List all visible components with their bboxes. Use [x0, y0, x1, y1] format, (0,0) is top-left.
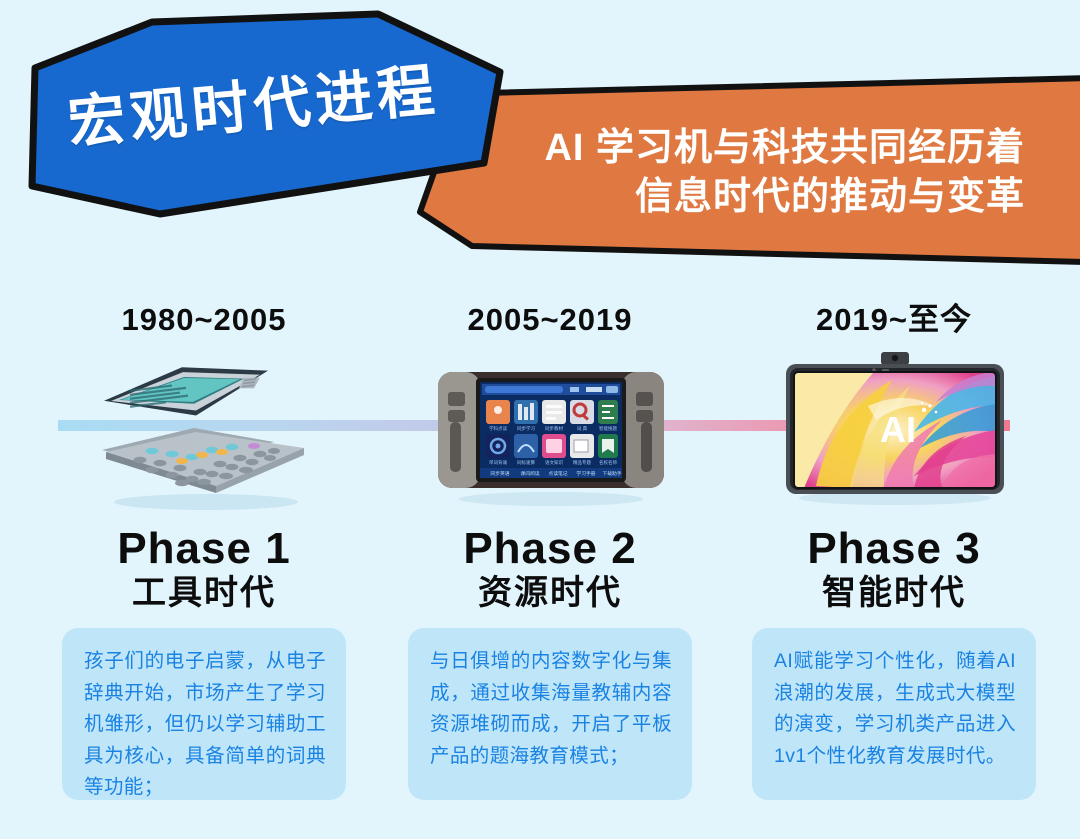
ai-screen-label: AI [880, 409, 916, 450]
phase-year-1: 1980~2005 [34, 300, 374, 340]
phase-description-card-3: AI赋能学习个性化，随着AI浪潮的发展，生成式大模型的演变，学习机类产品进入1v… [752, 628, 1036, 800]
phase-title-cn-2: 资源时代 [380, 574, 720, 613]
phase-year-3: 2019~至今 [724, 300, 1064, 340]
svg-text:学科点读: 学科点读 [489, 425, 507, 432]
phase-title-cn-3: 智能时代 [724, 574, 1064, 613]
phase-title-en-1: Phase 1 [34, 526, 374, 572]
phase-device-slot-3: AI [724, 346, 1064, 516]
svg-text:词 典: 词 典 [577, 425, 588, 432]
page-subtitle-line-2: 信息时代的推动与变革 [470, 173, 1025, 222]
svg-text:同步学习: 同步学习 [517, 425, 535, 432]
svg-text:语文知识: 语文知识 [545, 459, 563, 466]
phase-title-cn-1: 工具时代 [34, 574, 374, 613]
phase-device-slot-1 [34, 346, 374, 516]
svg-text:学习手册: 学习手册 [576, 470, 595, 477]
media-learning-tablet-device: 学科点读 同步学习 同步教材 词 典 智能搜题 [420, 356, 682, 506]
svg-text:同标速算: 同标速算 [517, 459, 535, 466]
svg-text:同步教材: 同步教材 [545, 425, 563, 432]
phase-title-en-3: Phase 3 [724, 526, 1064, 572]
infographic-canvas: 宏观时代进程 AI 学习机与科技共同经历着 信息时代的推动与变革 1980~20… [0, 0, 1080, 839]
svg-text:精品专题: 精品专题 [573, 459, 591, 466]
svg-text:点读笔记: 点读笔记 [548, 470, 567, 477]
phase-description-card-2: 与日俱增的内容数字化与集成，通过收集海量教辅内容资源堆砌而成，开启了平板产品的题… [408, 628, 692, 800]
phase-column-1: 1980~2005 [34, 300, 374, 613]
phase-year-2: 2005~2019 [380, 300, 720, 340]
phase-description-text-1: 孩子们的电子启蒙，从电子辞典开始，市场产生了学习机雏形，但仍以学习辅助工具为核心… [84, 646, 326, 804]
svg-text:课间阅读: 课间阅读 [520, 470, 539, 477]
electronic-dictionary-device [78, 352, 328, 512]
svg-text:下载助手: 下载助手 [602, 470, 621, 477]
phase-column-3: 2019~至今 [724, 300, 1064, 613]
phase-description-card-1: 孩子们的电子启蒙，从电子辞典开始，市场产生了学习机雏形，但仍以学习辅助工具为核心… [62, 628, 346, 800]
svg-text:同步英语: 同步英语 [490, 470, 509, 477]
phase-column-2: 2005~2019 [380, 300, 720, 613]
svg-text:名校名师: 名校名师 [599, 459, 617, 466]
phase-title-en-2: Phase 2 [380, 526, 720, 572]
phase-device-slot-2: 学科点读 同步学习 同步教材 词 典 智能搜题 [380, 346, 720, 516]
page-subtitle-line-1: AI 学习机与科技共同经历着 [544, 127, 1025, 169]
page-subtitle: AI 学习机与科技共同经历着 信息时代的推动与变革 [470, 124, 1025, 223]
phase-description-text-3: AI赋能学习个性化，随着AI浪潮的发展，生成式大模型的演变，学习机类产品进入1v… [774, 646, 1016, 772]
phase-description-text-2: 与日俱增的内容数字化与集成，通过收集海量教辅内容资源堆砌而成，开启了平板产品的题… [430, 646, 672, 772]
ai-tablet-device: AI [764, 346, 1026, 512]
svg-text:单词背诵: 单词背诵 [489, 459, 507, 466]
svg-text:智能搜题: 智能搜题 [599, 425, 617, 432]
